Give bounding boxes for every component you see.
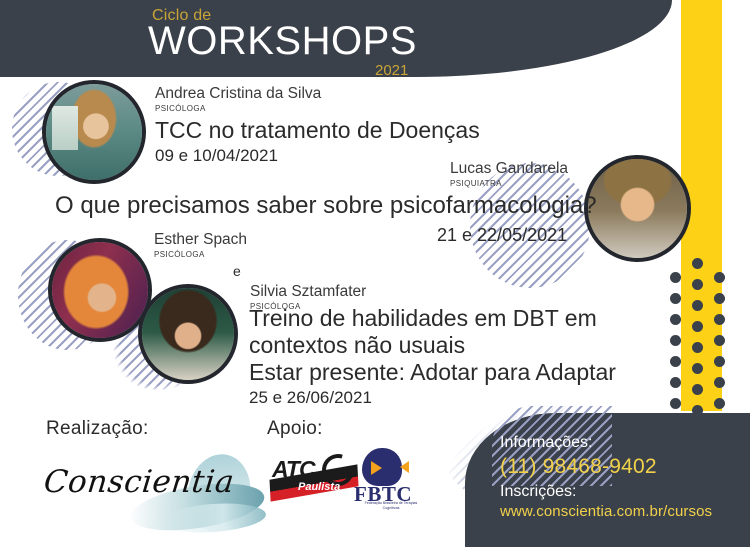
speaker-block-esther: Esther Spach PSICÓLOGA: [154, 232, 247, 259]
decor-dot: [714, 398, 725, 409]
avatar-andrea: [42, 80, 146, 184]
decor-dot: [670, 293, 681, 304]
decor-dot: [670, 377, 681, 388]
workshop-date-silvia: 25 e 26/06/2021: [249, 388, 616, 408]
speaker-name: Esther Spach: [154, 232, 247, 248]
workshop-title: TCC no tratamento de Doenças: [155, 117, 480, 144]
decor-dot: [692, 363, 703, 374]
header-year: 2021: [375, 62, 408, 79]
decor-dot: [714, 272, 725, 283]
phone-number[interactable]: (11) 98468-9402: [500, 453, 712, 481]
workshop-date: 09 e 10/04/2021: [155, 146, 480, 166]
atc-subtitle: Paulista: [298, 481, 340, 493]
page-title: WORKSHOPS: [148, 21, 417, 61]
decor-dot: [692, 300, 703, 311]
info-label: Informações:: [500, 432, 712, 453]
workshop-title-lucas: O que precisamos saber sobre psicofarmac…: [55, 192, 597, 220]
atc-paulista-logo: ATC Paulista: [268, 452, 360, 507]
avatar-lucas: [584, 155, 691, 262]
decor-dot: [714, 293, 725, 304]
speaker-name: Silvia Sztamfater: [250, 284, 366, 300]
poster-canvas: Ciclo de WORKSHOPS 2021 Andrea Cristina …: [0, 0, 750, 547]
decor-dot: [714, 377, 725, 388]
website-url[interactable]: www.conscientia.com.br/cursos: [500, 502, 712, 522]
decor-dot: [692, 258, 703, 269]
conscientia-wordmark: Conscientia: [42, 464, 236, 500]
atc-wordmark: ATC: [272, 456, 315, 483]
workshop-title-line2: contextos não usuais: [249, 332, 616, 359]
decor-dot: [670, 335, 681, 346]
workshop-block-silvia: Treino de habilidades em DBT em contexto…: [249, 305, 616, 408]
avatar-silvia: [138, 284, 238, 384]
decor-dot: [670, 314, 681, 325]
contact-text-group: Informações: (11) 98468-9402 Inscrições:…: [500, 432, 712, 522]
speaker-role: PSICÓLOGA: [154, 250, 247, 259]
fbtc-arrow-triangle-icon: [400, 461, 409, 473]
decor-dot: [692, 321, 703, 332]
speaker-name: Andrea Cristina da Silva: [155, 86, 480, 102]
fbtc-subtitle: Federação Brasileira de Terapias Cogniti…: [358, 501, 424, 511]
decor-dot: [714, 356, 725, 367]
header-text-group: Ciclo de WORKSHOPS 2021: [0, 0, 672, 77]
speaker-role: PSICÓLOGA: [155, 104, 480, 113]
fbtc-head-icon: [362, 448, 402, 486]
speaker-block-andrea: Andrea Cristina da Silva PSICÓLOGA TCC n…: [155, 86, 480, 166]
decor-dot: [714, 314, 725, 325]
speaker-name: Lucas Gandarela: [450, 161, 568, 177]
decor-dot: [714, 335, 725, 346]
speaker-role: PSIQUIATRA: [450, 179, 568, 188]
decor-dot: [692, 384, 703, 395]
avatar-esther: [48, 238, 152, 342]
fbtc-logo: FBTC Federação Brasileira de Terapias Co…: [350, 448, 426, 510]
decor-dot: [692, 279, 703, 290]
conscientia-logo: Conscientia: [38, 452, 253, 540]
signup-label: Inscrições:: [500, 481, 712, 502]
decor-dot: [670, 398, 681, 409]
workshop-title-line3: Estar presente: Adotar para Adaptar: [249, 359, 616, 386]
realizacao-label: Realização:: [46, 418, 149, 440]
speaker-block-lucas: Lucas Gandarela PSIQUIATRA: [450, 161, 568, 188]
workshop-date-lucas: 21 e 22/05/2021: [437, 225, 567, 246]
speaker-connector: e: [233, 263, 241, 279]
workshop-title-line1: Treino de habilidades em DBT em: [249, 305, 616, 332]
fbtc-play-triangle-icon: [371, 461, 382, 475]
decor-dot: [670, 356, 681, 367]
apoio-label: Apoio:: [267, 418, 323, 440]
decor-dot: [692, 342, 703, 353]
decor-dot: [670, 272, 681, 283]
